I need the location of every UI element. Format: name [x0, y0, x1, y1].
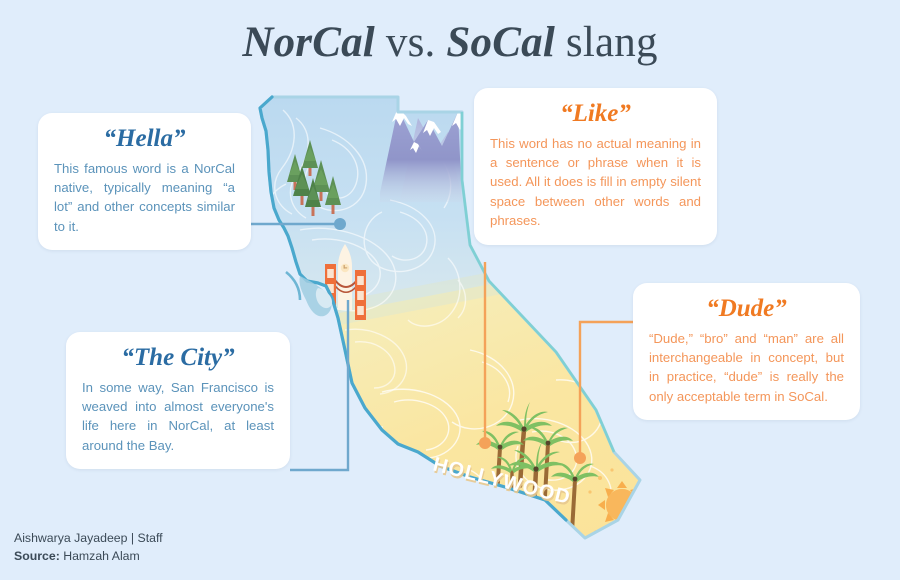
callout-the-city-body: In some way, San Francisco is weaved int… — [82, 378, 274, 456]
callout-hella[interactable]: “Hella” This famous word is a NorCal nat… — [38, 113, 251, 250]
credits: Aishwarya Jayadeep | Staff Source: Hamza… — [14, 530, 163, 566]
callout-dude-body: “Dude,” “bro” and “man” are all intercha… — [649, 329, 844, 407]
callout-the-city[interactable]: “The City” In some way, San Francisco is… — [66, 332, 290, 469]
callout-like[interactable]: “Like” This word has no actual meaning i… — [474, 88, 717, 245]
credit-source-label: Source: — [14, 549, 60, 563]
callout-hella-heading: “Hella” — [54, 125, 235, 153]
callout-dude[interactable]: “Dude” “Dude,” “bro” and “man” are all i… — [633, 283, 860, 420]
infographic-canvas: NorCal vs. SoCal slang — [0, 0, 900, 580]
callout-dude-heading: “Dude” — [649, 295, 844, 323]
credit-source: Source: Hamzah Alam — [14, 548, 163, 566]
callout-like-heading: “Like” — [490, 100, 701, 128]
bridge-tower-right — [355, 270, 366, 320]
credit-author: Aishwarya Jayadeep | Staff — [14, 530, 163, 548]
callout-hella-body: This famous word is a NorCal native, typ… — [54, 159, 235, 237]
callout-like-body: This word has no actual meaning in a sen… — [490, 134, 701, 231]
credit-source-name: Hamzah Alam — [60, 549, 140, 563]
callout-the-city-heading: “The City” — [82, 344, 274, 372]
